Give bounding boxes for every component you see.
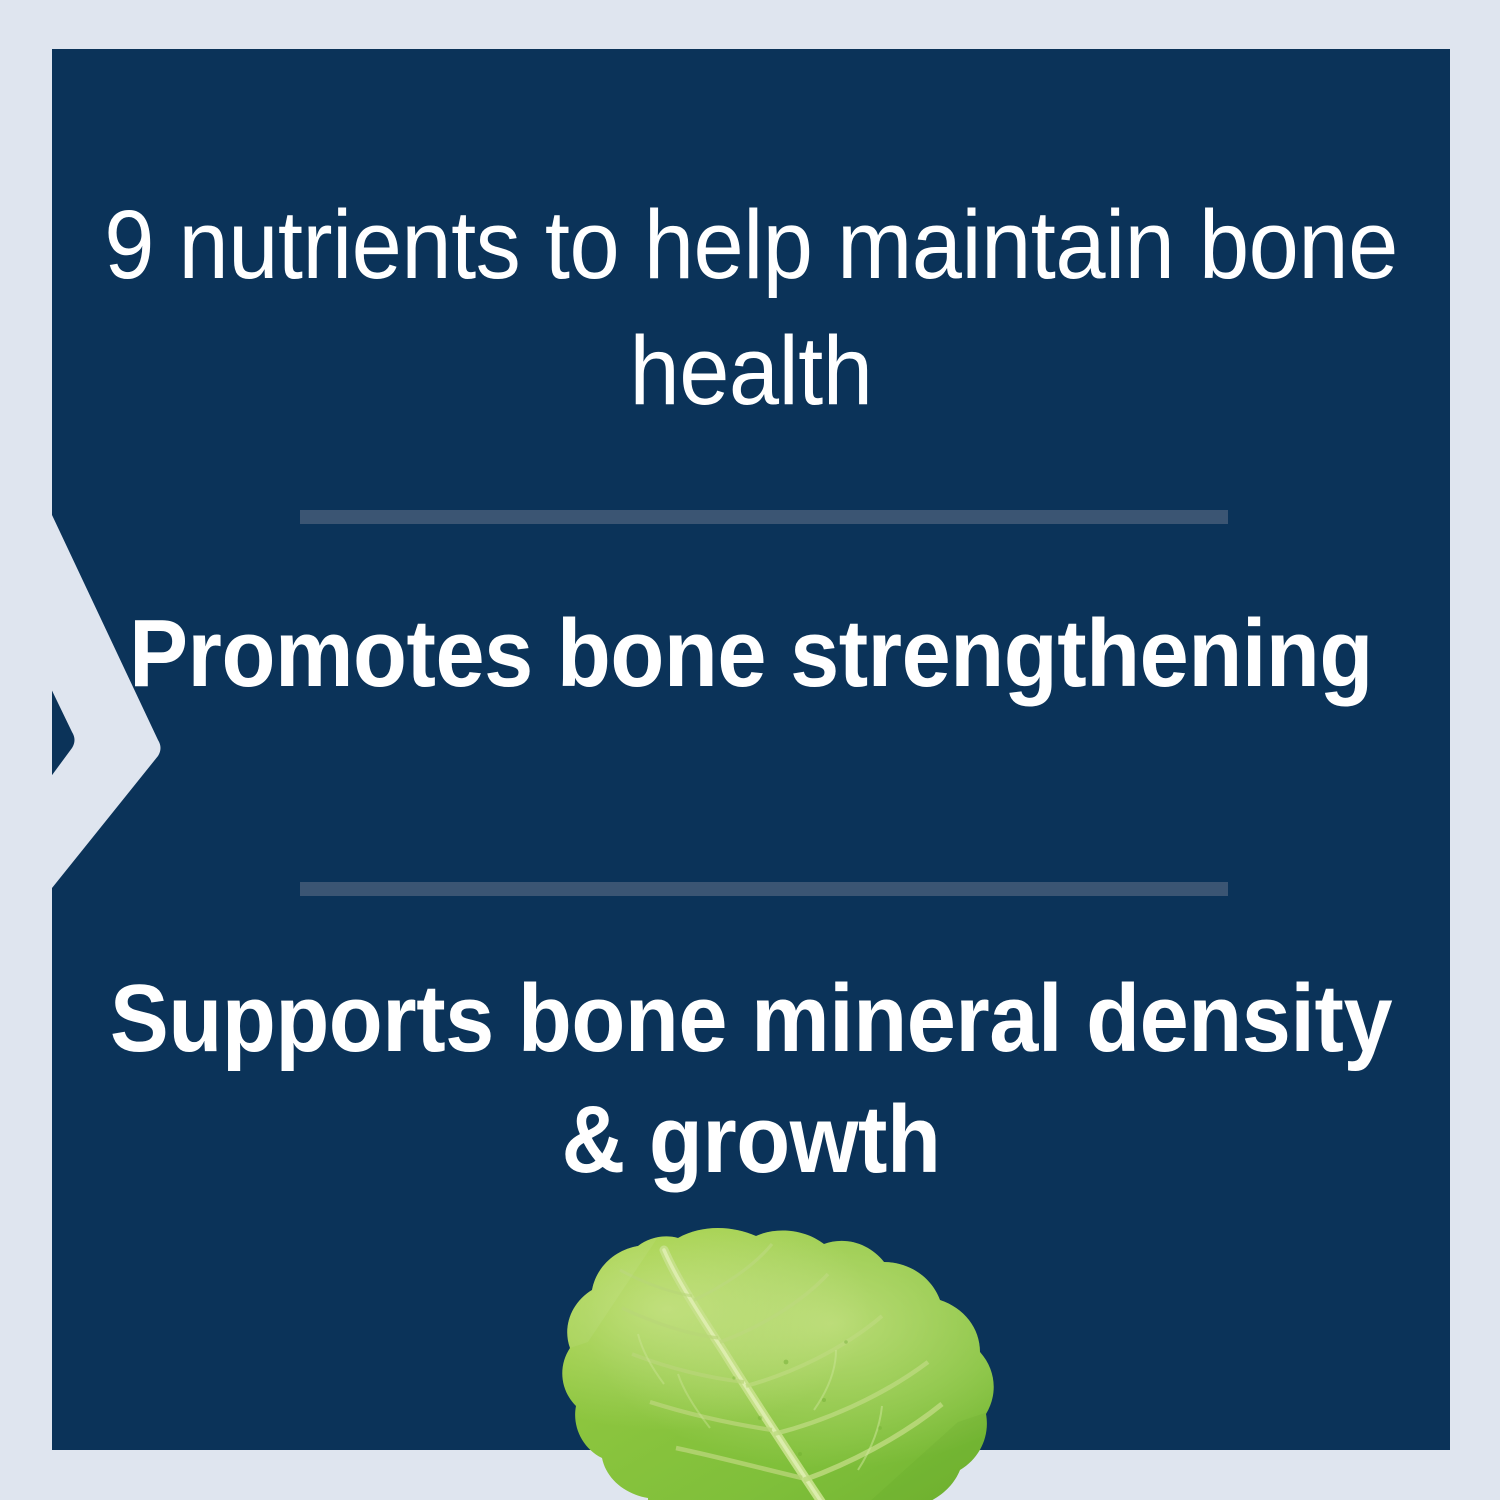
divider-2 — [300, 882, 1228, 896]
infographic-canvas: 9 nutrients to help maintain bone health… — [0, 0, 1500, 1500]
page-title: 9 nutrients to help maintain bone health — [101, 182, 1401, 434]
divider-1 — [300, 510, 1228, 524]
benefit-claim-1: Promotes bone strengthening — [108, 594, 1394, 715]
benefit-claim-2: Supports bone mineral density & growth — [108, 959, 1394, 1201]
green-leaf-image — [528, 1222, 1018, 1500]
